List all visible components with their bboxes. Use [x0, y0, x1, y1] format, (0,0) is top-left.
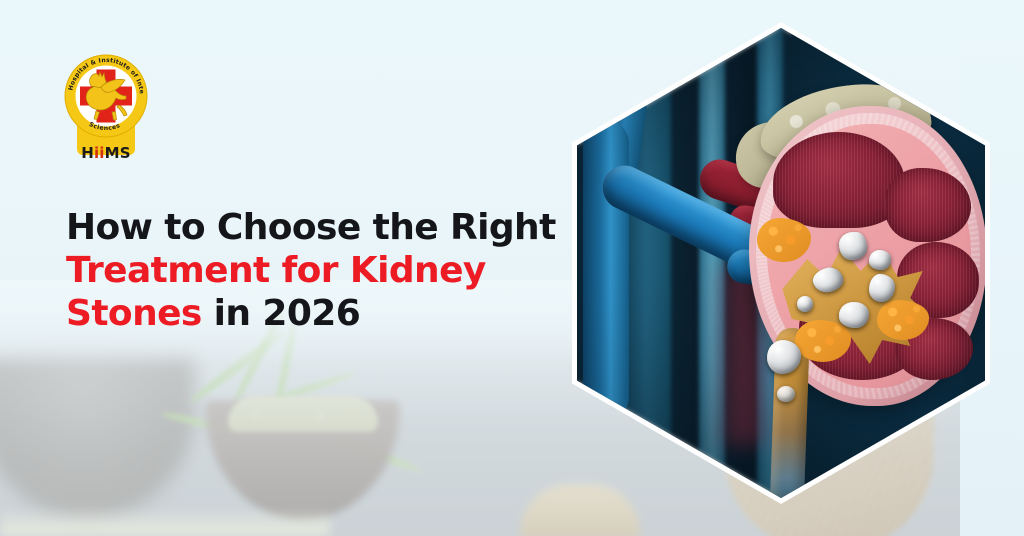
page-title: How to Choose the Right Treatment for Ki…: [66, 206, 586, 335]
kidney-stone: [839, 232, 867, 260]
kidney-stone: [777, 386, 795, 402]
kidney-stone: [839, 302, 869, 328]
headline-line-2: Treatment for Kidney: [66, 249, 586, 292]
hiims-logo[interactable]: Hospital & Institute of Integrated Medic…: [63, 53, 149, 165]
logo-wordmark: HiiMS: [63, 146, 149, 161]
kidney-stone: [869, 250, 891, 270]
hero-hexagon: [572, 22, 990, 504]
headline-line-1: How to Choose the Right: [66, 206, 586, 249]
kidney-illustration: [577, 28, 985, 498]
logo-wordmark-ms: MS: [105, 144, 131, 162]
headline-line-3-rest: in 2026: [202, 293, 360, 334]
logo-wordmark-h: H: [81, 144, 94, 162]
headline-line-3-red: Stones: [66, 293, 202, 334]
kidney-stone: [797, 296, 813, 312]
logo-wordmark-ii: ii: [94, 144, 105, 162]
headline-line-3: Stones in 2026: [66, 292, 586, 335]
banner-canvas: Hospital & Institute of Integrated Medic…: [0, 0, 1024, 536]
